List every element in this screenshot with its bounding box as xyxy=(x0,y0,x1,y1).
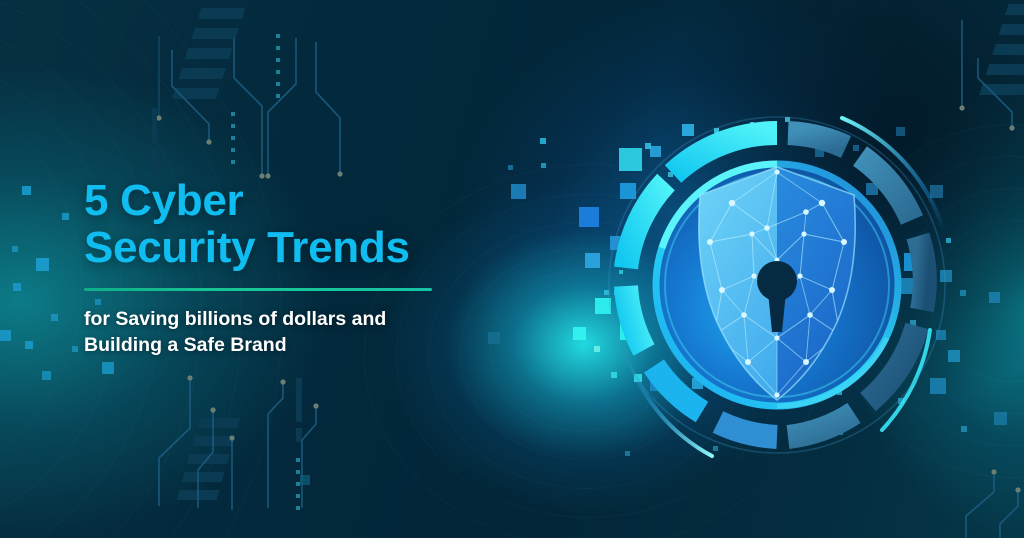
pixel-square xyxy=(72,346,78,352)
pixel-square xyxy=(989,292,1000,303)
tick-stack-right xyxy=(152,108,157,176)
ladder-pattern-bottom xyxy=(177,418,241,500)
pixel-square xyxy=(573,327,586,340)
pixel-square xyxy=(12,246,18,252)
cyber-security-banner: 5 Cyber Security Trends for Saving billi… xyxy=(0,0,1024,538)
ladder-pattern-top xyxy=(172,8,246,99)
pixel-square xyxy=(508,165,513,170)
dotted-column-a xyxy=(276,34,280,98)
pixel-square xyxy=(540,138,546,144)
pixel-square xyxy=(994,412,1007,425)
pixel-square xyxy=(25,341,33,349)
pixel-square xyxy=(22,186,31,195)
title-divider xyxy=(84,288,432,291)
pixel-square xyxy=(0,330,11,341)
pixel-square xyxy=(512,186,518,192)
pixel-square xyxy=(51,314,58,321)
tick-stack-bottom xyxy=(296,378,302,442)
pixel-square xyxy=(62,213,69,220)
page-title: 5 Cyber Security Trends xyxy=(84,178,484,271)
dotted-column-b xyxy=(231,112,235,164)
text-block: 5 Cyber Security Trends for Saving billi… xyxy=(84,178,484,359)
page-subtitle: for Saving billions of dollars and Build… xyxy=(84,307,484,358)
hud-ring-graphic xyxy=(592,100,962,470)
pixel-square xyxy=(488,332,500,344)
pixel-square xyxy=(541,163,546,168)
pixel-square xyxy=(102,362,114,374)
dotted-column-c xyxy=(296,458,300,510)
pixel-square xyxy=(36,258,49,271)
pixel-square xyxy=(300,475,310,485)
pixel-square xyxy=(511,184,526,199)
ladder-pattern-top-right xyxy=(979,4,1024,95)
pixel-square xyxy=(42,371,51,380)
pixel-square xyxy=(13,283,21,291)
